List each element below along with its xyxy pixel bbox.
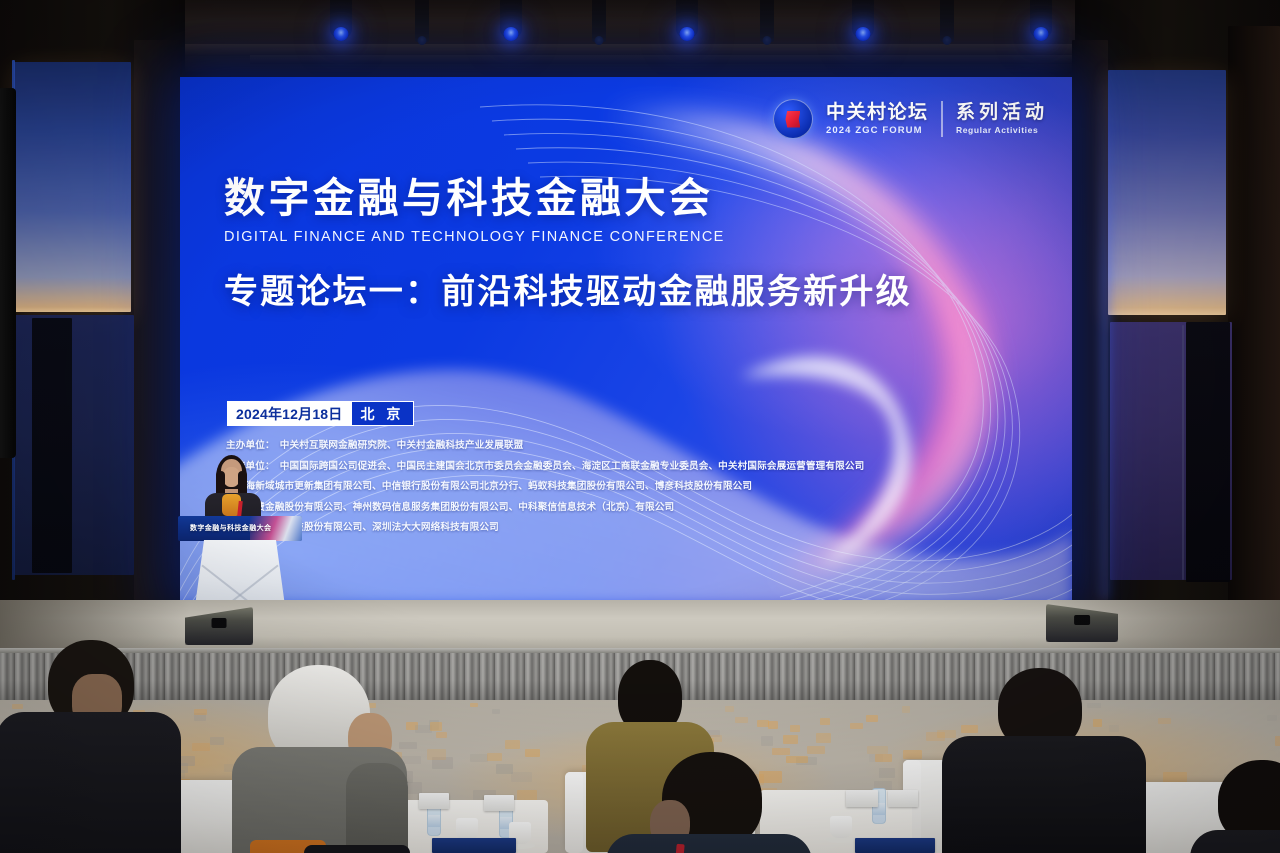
organizer-names: 中关村互联网金融研究院、中关村金融科技产业发展联盟 [280, 440, 524, 451]
podium-banner: 数字金融与科技金融大会 [178, 516, 302, 541]
sofa-arm [565, 772, 583, 853]
attendee-torso [606, 834, 812, 853]
led-screen: 中关村论坛 2024 ZGC FORUM 系列活动 Regular Activi… [180, 77, 1072, 605]
carpet-tile [487, 753, 502, 761]
name-card [432, 838, 516, 853]
stage-light [415, 0, 429, 42]
carpet-tile [399, 742, 417, 749]
organizer-list: 主办单位：中关村互联网金融研究院、中关村金融科技产业发展联盟支持单位：中国国际跨… [226, 441, 966, 544]
wall-right-far-column [1228, 26, 1280, 606]
carpet-tile [430, 722, 443, 730]
coffee-cup[interactable] [456, 818, 478, 840]
organizer-line: 马上消费金融股份有限公司、神州数码信息服务集团股份有限公司、中科聚信信息技术（北… [226, 503, 966, 513]
podium-banner-text: 数字金融与科技金融大会 [190, 523, 271, 533]
carpet-tile [436, 732, 447, 739]
stage-light [852, 0, 874, 38]
carpet-tile [902, 706, 910, 713]
organizer-line: 支持单位：中国国际跨国公司促进会、中国民主建国会北京市委员会金融委员会、海淀区工… [226, 462, 966, 472]
organizer-line: 北京海新域城市更新集团有限公司、中信银行股份有限公司北京分行、蚂蚁科技集团股份有… [226, 482, 966, 492]
attendee-torso [1190, 830, 1280, 853]
forum-subtitle-cn: 专题论坛一：前沿科技驱动金融服务新升级 [224, 264, 984, 313]
carpet-tile [1158, 718, 1170, 724]
logo-secondary-en: Regular Activities [956, 126, 1048, 135]
organizer-names: 北京海新域城市更新集团有限公司、中信银行股份有限公司北京分行、蚂蚁科技集团股份有… [226, 481, 752, 492]
organizer-line: 上海合合信息科技股份有限公司、深圳法大大网络科技有限公司 [226, 523, 966, 533]
stage-light [940, 0, 954, 42]
carpet-tile [369, 703, 377, 708]
carpet-tile [768, 721, 779, 729]
wall-left-dark-column [134, 40, 182, 600]
emblem-flag-shape [785, 111, 800, 128]
conference-title-cn: 数字金融与科技金融大会 [224, 177, 984, 220]
conference-stage-photo: 中关村论坛 2024 ZGC FORUM 系列活动 Regular Activi… [0, 0, 1280, 853]
podium: 数字金融与科技金融大会 [178, 516, 302, 608]
stage-light [592, 0, 606, 42]
name-card [846, 790, 878, 807]
attendee-torso [0, 712, 181, 853]
name-card [419, 793, 449, 809]
carpet-tile [937, 730, 956, 738]
carpet-tile [1093, 719, 1103, 728]
stage-light [760, 0, 774, 42]
carpet-tile [192, 743, 210, 751]
stage-light [330, 0, 352, 38]
carpet-tile [725, 706, 733, 712]
stage-light [676, 0, 698, 38]
attendee-bag [304, 845, 410, 853]
carpet-tile [816, 733, 832, 743]
podium-body [195, 540, 285, 606]
bottle-label [428, 815, 440, 827]
name-card [484, 795, 514, 811]
logo-divider [941, 101, 943, 137]
carpet-tile [12, 704, 23, 709]
wall-panel-right-upper [1108, 70, 1226, 315]
organizer-label: 主办单位： [226, 440, 275, 451]
carpet-tile [875, 754, 892, 762]
logo-secondary-cn: 系列活动 [956, 103, 1048, 122]
carpet-tile [505, 740, 520, 748]
carpet-tile [790, 725, 800, 732]
door-right-seam [1182, 325, 1184, 580]
carpet-tile [820, 718, 830, 725]
carpet-tile [761, 736, 773, 746]
coffee-cup[interactable] [830, 816, 852, 838]
carpet-tile [1087, 703, 1101, 707]
carpet-tile [470, 703, 478, 707]
screen-title-block: 数字金融与科技金融大会 DIGITAL FINANCE AND TECHNOLO… [224, 177, 984, 313]
carpet-tile [866, 715, 877, 722]
monitor-grille-right [1074, 615, 1090, 625]
carpet-tile [470, 754, 488, 762]
carpet-tile [525, 749, 541, 757]
carpet-tile [961, 725, 977, 733]
name-card [855, 838, 935, 853]
carpet-tile [1109, 725, 1119, 732]
stage-light [500, 0, 522, 38]
carpet-tile [492, 709, 500, 714]
carpet-tile [1267, 715, 1277, 721]
monitor-grille-left [212, 618, 227, 628]
name-card [888, 790, 918, 807]
door-right [1186, 322, 1230, 582]
organizer-line: 主办单位：中关村互联网金融研究院、中关村金融科技产业发展联盟 [226, 441, 966, 451]
organizer-names: 马上消费金融股份有限公司、神州数码信息服务集团股份有限公司、中科聚信信息技术（北… [226, 502, 674, 513]
carpet-tile [1275, 736, 1280, 746]
logo-primary-text: 中关村论坛 2024 ZGC FORUM [826, 103, 929, 136]
carpet-tile [850, 723, 863, 729]
stage-light [1030, 0, 1052, 38]
zgc-forum-logo: 中关村论坛 2024 ZGC FORUM 系列活动 Regular Activi… [773, 99, 1048, 139]
event-date: 2024年12月18日 [227, 401, 352, 426]
carpet-tile [496, 764, 514, 774]
line-array-speaker-left [0, 88, 16, 458]
carpet-tile [786, 756, 808, 764]
carpet-tile [427, 749, 446, 760]
zgc-emblem-icon [773, 99, 813, 139]
conference-title-en: DIGITAL FINANCE AND TECHNOLOGY FINANCE C… [224, 229, 984, 245]
carpet-tile [903, 750, 922, 759]
carpet-tile [210, 737, 224, 746]
carpet-tile [783, 735, 798, 743]
carpet-tile [511, 772, 532, 782]
carpet-tile [735, 717, 748, 722]
attendee-torso [942, 736, 1146, 853]
door-left [32, 318, 72, 573]
carpet-tile [867, 746, 887, 754]
carpet-tile [879, 768, 895, 777]
organizer-names: 中国国际跨国公司促进会、中国民主建国会北京市委员会金融委员会、海淀区工商联金融专… [280, 461, 865, 472]
wall-panel-left-upper [14, 62, 131, 312]
carpet-tile [807, 746, 825, 755]
carpet-tile [757, 720, 768, 727]
carpet-tile [194, 709, 208, 715]
date-location-badge: 2024年12月18日 北 京 [227, 401, 414, 426]
logo-secondary-text: 系列活动 Regular Activities [956, 103, 1048, 135]
logo-cn-name: 中关村论坛 [826, 103, 929, 122]
attendee-arm [346, 763, 408, 853]
wall-right-blue-glow [1100, 60, 1110, 600]
event-city: 北 京 [352, 401, 415, 426]
carpet-tile [772, 748, 790, 755]
logo-en-name: 2024 ZGC FORUM [826, 126, 929, 136]
